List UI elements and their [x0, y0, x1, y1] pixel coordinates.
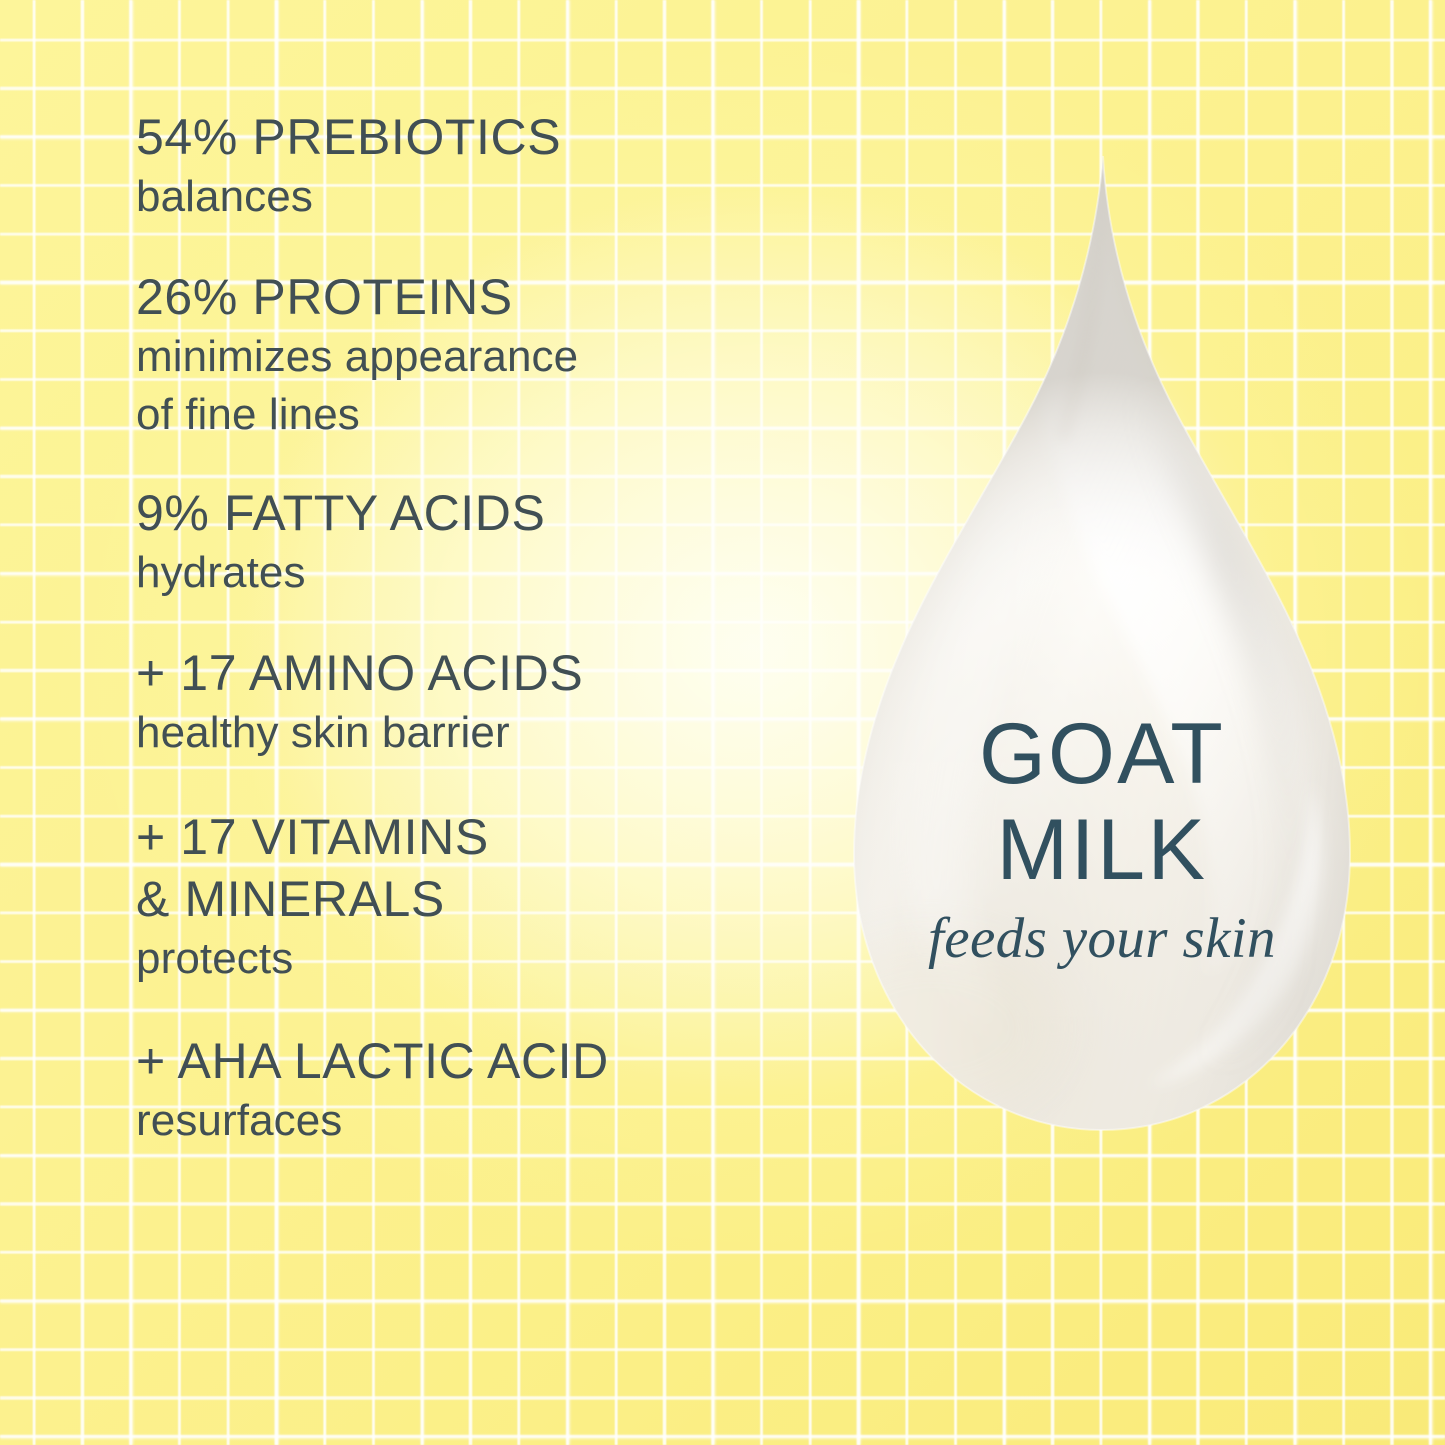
drop-warm-bounce — [812, 938, 1062, 1118]
benefit-title: + AHA LACTIC ACID — [136, 1030, 836, 1092]
benefit-subtitle: healthy skin barrier — [136, 704, 836, 762]
benefit-item-fatty-acids: 9% FATTY ACIDS hydrates — [136, 482, 836, 602]
benefit-subtitle: hydrates — [136, 544, 836, 602]
benefit-item-vitamins-minerals: + 17 VITAMINS & MINERALS protects — [136, 806, 836, 988]
benefit-title: + 17 AMINO ACIDS — [136, 642, 836, 704]
benefit-subtitle: minimizes appearance of fine lines — [136, 328, 836, 444]
milk-drop-illustration — [812, 148, 1392, 1168]
benefit-title: + 17 VITAMINS & MINERALS — [136, 806, 836, 930]
benefit-subtitle: balances — [136, 168, 836, 226]
benefit-title: 26% PROTEINS — [136, 266, 836, 328]
benefit-title: 54% PREBIOTICS — [136, 106, 836, 168]
benefit-item-proteins: 26% PROTEINS minimizes appearance of fin… — [136, 266, 836, 444]
milk-drop-icon — [812, 148, 1392, 1168]
benefit-subtitle: resurfaces — [136, 1092, 836, 1150]
benefit-subtitle: protects — [136, 930, 836, 988]
benefits-list: 54% PREBIOTICS balances 26% PROTEINS min… — [136, 106, 836, 1150]
benefit-item-amino-acids: + 17 AMINO ACIDS healthy skin barrier — [136, 642, 836, 762]
infographic-canvas: 54% PREBIOTICS balances 26% PROTEINS min… — [0, 0, 1445, 1445]
benefit-item-aha-lactic-acid: + AHA LACTIC ACID resurfaces — [136, 1030, 836, 1150]
benefit-item-prebiotics: 54% PREBIOTICS balances — [136, 106, 836, 226]
benefit-title: 9% FATTY ACIDS — [136, 482, 836, 544]
